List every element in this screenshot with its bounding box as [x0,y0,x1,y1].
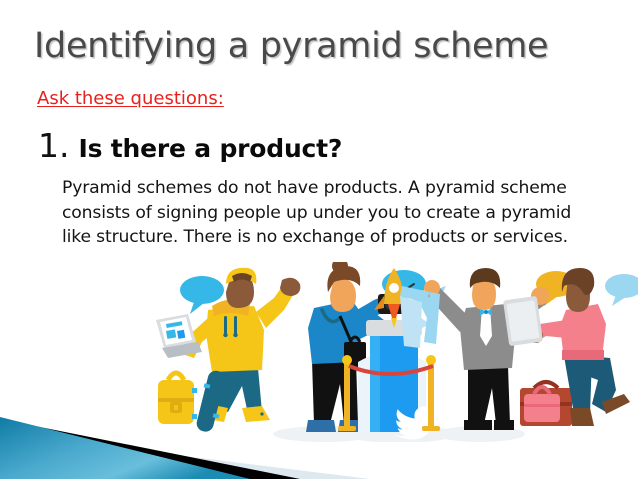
slide-canvas: Identifying a pyramid scheme Ask these q… [0,0,638,479]
lead-in-text: Ask these questions: [37,88,224,109]
speech-bubble-pale-blue [605,274,638,306]
tablet-prop [503,296,543,346]
body-paragraph: Pyramid schemes do not have products. A … [62,176,602,250]
question-label: Is there a product? [79,134,343,163]
backpack-object [158,373,197,424]
page-title: Identifying a pyramid scheme [34,26,548,66]
question-number: 1. [38,126,70,165]
shirt-on-hanger [400,286,440,348]
illustration-graphic [150,262,638,442]
question-heading: 1. Is there a product? [38,126,342,165]
